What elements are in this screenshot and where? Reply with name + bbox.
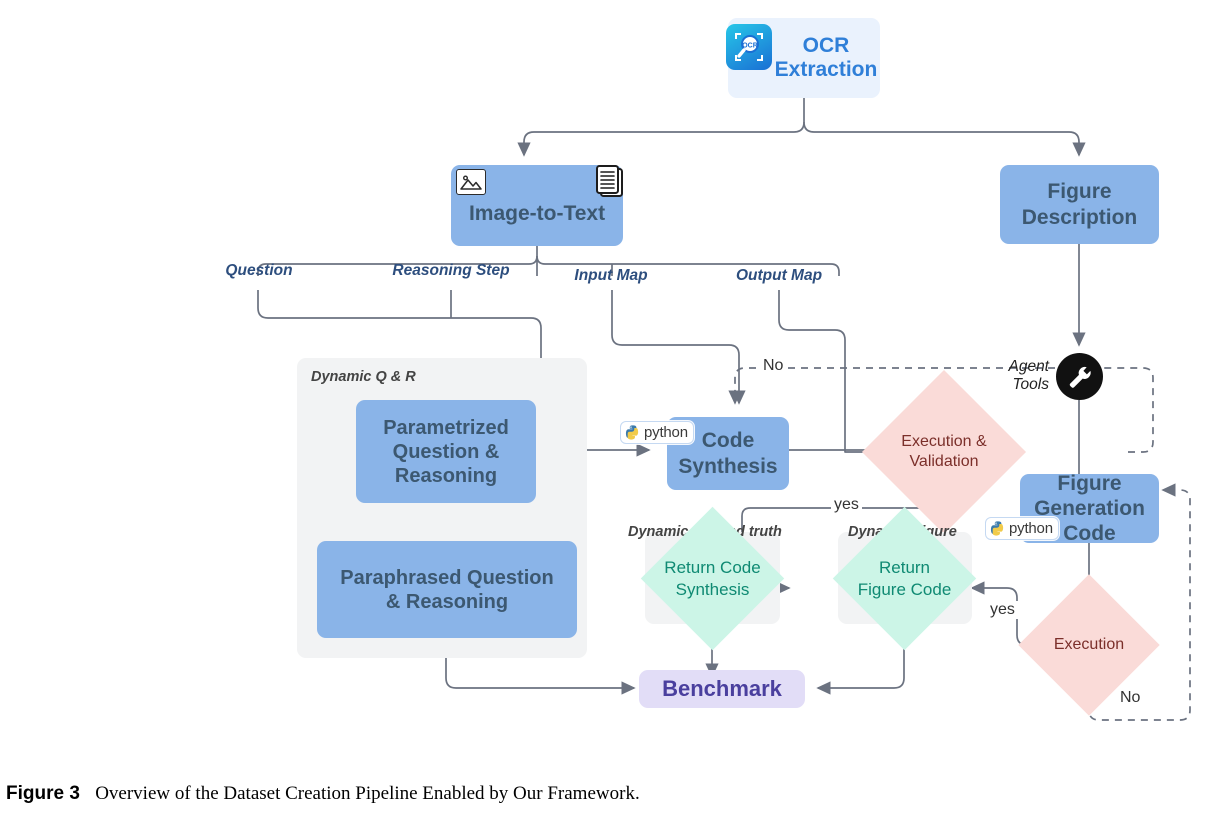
node-return-figure-code[interactable]: Return Figure Code: [836, 534, 973, 623]
ocr-label-line2: Extraction: [775, 58, 878, 81]
edge-label-no-execution: No: [1117, 689, 1143, 707]
branch-label-question: Question: [225, 262, 292, 280]
figure-description-line2: Description: [1022, 206, 1138, 229]
return-code-synthesis-label: Return Code Synthesis: [664, 557, 760, 600]
python-logo-glyph: [624, 424, 641, 441]
figure-description-line1: Figure: [1047, 180, 1111, 203]
node-execution-validation[interactable]: Execution & Validation: [886, 394, 1002, 510]
agent-tools-line1: Agent: [1008, 358, 1049, 375]
parametrized-line2: Question &: [393, 441, 500, 463]
parametrized-line1: Parametrized: [383, 417, 509, 439]
caption-label: Figure 3: [6, 783, 80, 804]
node-return-code-synthesis[interactable]: Return Code Synthesis: [644, 534, 781, 623]
connector-layer: [0, 0, 1214, 819]
caption-text: Overview of the Dataset Creation Pipelin…: [95, 783, 640, 804]
edge-label-yes-execution: yes: [987, 601, 1018, 619]
node-paraphrased-question-reasoning[interactable]: Paraphrased Question & Reasoning: [317, 541, 577, 638]
image-to-text-label: Image-to-Text: [469, 201, 605, 226]
branch-label-output-map: Output Map: [736, 267, 822, 285]
agent-tools-label: Agent Tools: [983, 358, 1049, 394]
python-badge-label: python: [1009, 520, 1053, 537]
node-figure-description[interactable]: Figure Description: [1000, 165, 1159, 244]
code-synthesis-line2: Synthesis: [678, 455, 777, 478]
image-icon: [456, 169, 486, 195]
figure-generation-line3: Code: [1063, 522, 1116, 545]
return-figure-line2: Figure Code: [858, 580, 952, 599]
return-figure-code-label: Return Figure Code: [858, 557, 952, 600]
diagram-canvas: OCR Extraction OCR Image-to-Text: [0, 0, 1214, 819]
figure-caption: Figure 3 Overview of the Dataset Creatio…: [6, 783, 1206, 805]
execution-validation-label: Execution & Validation: [901, 432, 986, 472]
figure-generation-line1: Figure: [1057, 472, 1121, 495]
python-logo-glyph: [989, 520, 1006, 537]
code-synthesis-line1: Code: [702, 429, 755, 452]
ocr-icon: OCR: [726, 24, 772, 70]
benchmark-label: Benchmark: [662, 676, 782, 702]
return-figure-line1: Return: [879, 558, 930, 577]
execution-validation-line1: Execution &: [901, 433, 986, 450]
agent-tools-line2: Tools: [1013, 376, 1049, 393]
node-parametrized-question-reasoning[interactable]: Parametrized Question & Reasoning: [356, 400, 536, 503]
execution-label: Execution: [1054, 635, 1124, 655]
parametrized-line3: Reasoning: [395, 465, 497, 487]
branch-label-reasoning-step: Reasoning Step: [392, 262, 509, 280]
node-execution[interactable]: Execution: [1039, 595, 1139, 695]
parametrized-label: Parametrized Question & Reasoning: [383, 416, 509, 488]
paraphrased-line1: Paraphrased Question: [340, 567, 553, 589]
document-icon: [595, 165, 625, 204]
ocr-extraction-label: OCR Extraction: [775, 34, 878, 82]
paraphrased-label: Paraphrased Question & Reasoning: [340, 566, 553, 614]
return-code-line1: Return Code: [664, 558, 760, 577]
branch-label-input-map: Input Map: [574, 267, 647, 285]
ocr-label-line1: OCR: [803, 34, 850, 57]
paraphrased-line2: & Reasoning: [386, 591, 508, 613]
edge-label-yes-validation: yes: [831, 496, 862, 514]
node-benchmark[interactable]: Benchmark: [639, 670, 805, 708]
figure-description-label: Figure Description: [1022, 179, 1138, 229]
execution-validation-line2: Validation: [909, 453, 978, 470]
python-icon-figure-generation: python: [985, 517, 1059, 540]
python-icon-code-synthesis: python: [620, 421, 694, 444]
edge-label-no-validation: No: [760, 357, 786, 375]
group-label-dynamic-qr: Dynamic Q & R: [311, 369, 416, 385]
agent-tools-icon: [1056, 353, 1103, 400]
return-code-line2: Synthesis: [676, 580, 750, 599]
wrench-icon: [1066, 363, 1094, 391]
python-badge-label: python: [644, 424, 688, 441]
